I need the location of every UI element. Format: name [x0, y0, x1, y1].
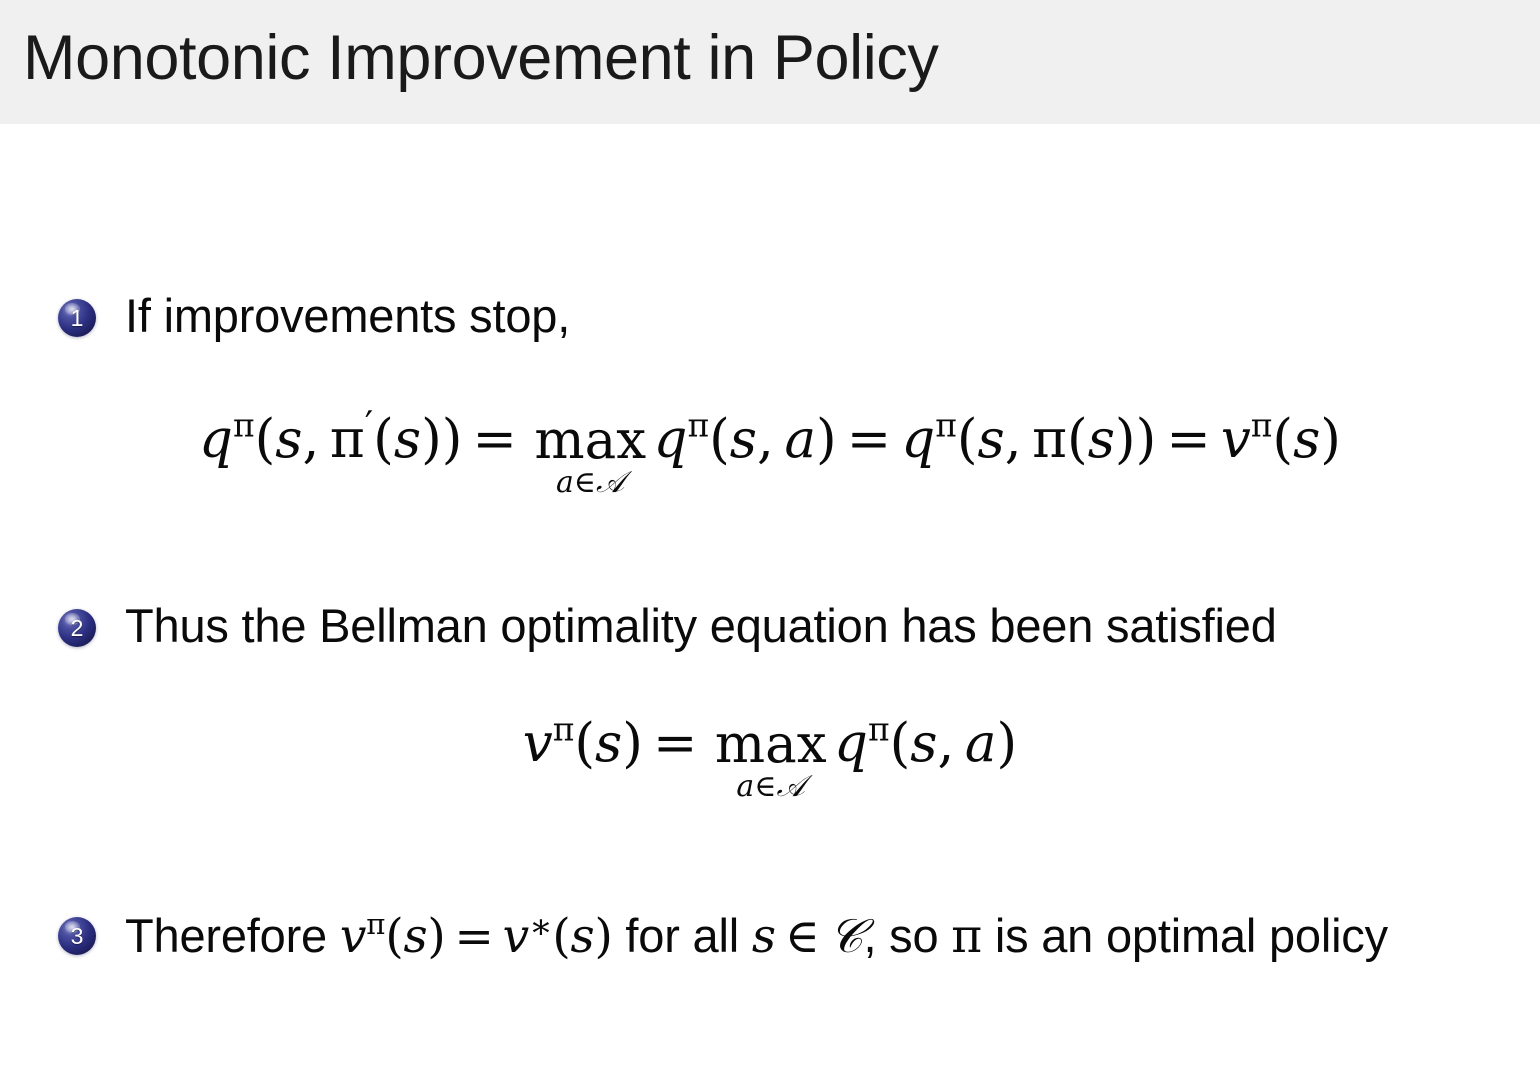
symbol-comma: ,	[937, 713, 954, 774]
symbol-cal-A: 𝒜	[596, 465, 625, 500]
max-operator-2: maxa∈𝒜	[715, 720, 827, 802]
symbol-rparen: )	[622, 713, 643, 774]
symbol-v: v	[523, 713, 553, 774]
inline-math-pi: π	[951, 909, 982, 964]
symbol-star: ∗	[529, 907, 552, 947]
symbol-s: s	[752, 909, 776, 964]
symbol-v: v	[1221, 409, 1251, 470]
list-item-text-before: Therefore	[125, 909, 340, 962]
inline-math-s-in-S: s ∈ 𝒞	[752, 909, 864, 964]
symbol-pi-sup: π	[553, 710, 575, 749]
equation-2-math: vπ(s)=maxa∈𝒜qπ(s, a)	[523, 713, 1017, 774]
symbol-comma: ,	[1005, 409, 1022, 470]
page-title: Monotonic Improvement in Policy	[23, 22, 939, 94]
symbol-comma: ,	[302, 409, 319, 470]
slide-body: 1 If improvements stop, qπ(s, π′(s))=max…	[0, 124, 1540, 1080]
symbol-equals: =	[446, 909, 503, 964]
display-equation-1: qπ(s, π′(s))=maxa∈𝒜qπ(s, a)=qπ(s, π(s))=…	[0, 404, 1540, 497]
list-item-text: If improvements stop,	[125, 290, 570, 343]
enumerate-bullet-1: 1	[58, 299, 96, 337]
symbol-rparen: )	[1320, 409, 1341, 470]
symbol-equals: =	[643, 713, 708, 774]
symbol-pi-sup: π	[935, 406, 957, 445]
symbol-rparen: )	[816, 409, 837, 470]
symbol-rparen: )	[421, 409, 442, 470]
list-item-1: 1 If improvements stop,	[58, 290, 570, 343]
symbol-in: ∈	[785, 909, 820, 964]
list-item-3: 3 Therefore vπ(s)=v∗(s) for all s ∈ 𝒞, s…	[58, 908, 1388, 964]
symbol-lparen: (	[385, 909, 403, 964]
list-item-text-after: , so	[863, 909, 951, 962]
max-subscript: a∈𝒜	[556, 468, 625, 499]
symbol-lparen: (	[957, 409, 978, 470]
equation-1-math: qπ(s, π′(s))=maxa∈𝒜qπ(s, a)=qπ(s, π(s))=…	[199, 409, 1341, 470]
symbol-a: a	[784, 409, 816, 470]
symbol-a: a	[736, 769, 754, 804]
symbol-s: s	[730, 409, 757, 470]
symbol-s: s	[275, 409, 302, 470]
symbol-in: ∈	[574, 465, 596, 500]
max-subscript: a∈𝒜	[736, 772, 805, 803]
symbol-rparen: )	[594, 909, 612, 964]
list-item-2: 2 Thus the Bellman optimality equation h…	[58, 600, 1277, 653]
symbol-pi-sup: π	[366, 907, 385, 941]
max-label: max	[534, 416, 646, 467]
symbol-q: q	[834, 713, 868, 774]
title-bar: Monotonic Improvement in Policy	[0, 0, 1540, 124]
symbol-comma: ,	[757, 409, 774, 470]
list-item-text-end: is an optimal policy	[982, 909, 1388, 962]
symbol-pi-sup: π	[868, 710, 890, 749]
enumerate-bullet-3: 3	[58, 917, 96, 955]
bullet-number-label: 3	[71, 925, 84, 948]
list-item-text: Thus the Bellman optimality equation has…	[125, 600, 1277, 653]
enumerate-bullet-2: 2	[58, 609, 96, 647]
list-item-text: Therefore vπ(s)=v∗(s) for all s ∈ 𝒞, so …	[125, 908, 1388, 964]
bullet-number-label: 2	[71, 617, 84, 640]
symbol-lparen: (	[373, 409, 394, 470]
symbol-s: s	[1088, 409, 1115, 470]
symbol-rparen: )	[1136, 409, 1157, 470]
symbol-lparen: (	[552, 909, 570, 964]
symbol-rparen: )	[427, 909, 445, 964]
symbol-lparen: (	[574, 713, 595, 774]
symbol-equals: =	[1156, 409, 1221, 470]
symbol-v: v	[503, 909, 529, 964]
symbol-s: s	[910, 713, 937, 774]
symbol-a: a	[556, 465, 574, 500]
symbol-in: ∈	[754, 769, 776, 804]
bullet-number-label: 1	[71, 307, 84, 330]
symbol-s: s	[403, 909, 427, 964]
symbol-v: v	[340, 909, 366, 964]
symbol-pi: π	[951, 909, 982, 964]
symbol-cal-A: 𝒜	[776, 769, 805, 804]
symbol-lparen: (	[255, 409, 276, 470]
symbol-pi: π	[330, 409, 365, 470]
symbol-rparen: )	[1115, 409, 1136, 470]
symbol-s: s	[394, 409, 421, 470]
symbol-equals: =	[462, 409, 527, 470]
symbol-s: s	[571, 909, 595, 964]
symbol-q: q	[654, 409, 688, 470]
symbol-a: a	[965, 713, 997, 774]
symbol-lparen: (	[890, 713, 911, 774]
symbol-pi-sup: π	[233, 406, 255, 445]
symbol-pi-sup: π	[1251, 406, 1273, 445]
symbol-rparen: )	[442, 409, 463, 470]
symbol-s: s	[978, 409, 1005, 470]
symbol-lparen: (	[1272, 409, 1293, 470]
list-item-text-middle: for all	[613, 909, 752, 962]
max-label: max	[715, 720, 827, 771]
symbol-prime: ′	[365, 404, 373, 447]
symbol-s: s	[1293, 409, 1320, 470]
display-equation-2: vπ(s)=maxa∈𝒜qπ(s, a)	[0, 710, 1540, 801]
symbol-cal-S: 𝒞	[829, 909, 864, 964]
symbol-pi-sup: π	[687, 406, 709, 445]
slide-root: Monotonic Improvement in Policy 1 If imp…	[0, 0, 1540, 1080]
max-operator-1: maxa∈𝒜	[534, 416, 646, 498]
symbol-pi: π	[1032, 409, 1067, 470]
symbol-lparen: (	[709, 409, 730, 470]
inline-math-v-pi: vπ(s)=v∗(s)	[340, 909, 613, 964]
symbol-lparen: (	[1067, 409, 1088, 470]
symbol-rparen: )	[997, 713, 1018, 774]
symbol-s: s	[595, 713, 622, 774]
symbol-q: q	[901, 409, 935, 470]
symbol-equals: =	[837, 409, 902, 470]
symbol-q: q	[199, 409, 233, 470]
